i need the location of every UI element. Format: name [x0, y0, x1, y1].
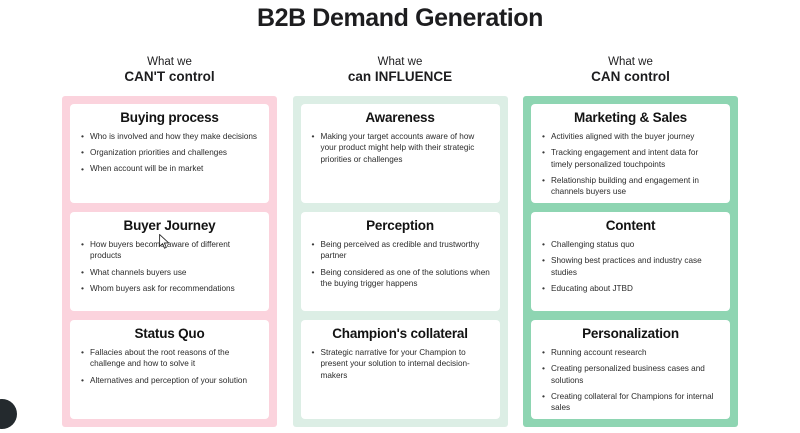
list-item: Whom buyers ask for recommendations	[79, 283, 260, 295]
edge-dot	[0, 399, 17, 429]
list-item: Organization priorities and challenges	[79, 147, 260, 159]
list-item: When account will be in market	[79, 163, 260, 175]
list-item: Tracking engagement and intent data for …	[540, 147, 721, 170]
slide-canvas: B2B Demand Generation What we CAN'T cont…	[0, 0, 800, 433]
column-cant-control: What we CAN'T control Buying process Who…	[62, 56, 277, 427]
card-bullet-list: Making your target accounts aware of how…	[310, 131, 491, 166]
card-title: Buying process	[79, 111, 260, 126]
card-title: Awareness	[310, 111, 491, 126]
card-title: Marketing & Sales	[540, 111, 721, 126]
panel-cant-control: Buying process Who is involved and how t…	[62, 96, 277, 427]
card-bullet-list: Running account research Creating person…	[540, 347, 721, 414]
column-header-can-control: What we CAN control	[523, 56, 738, 96]
list-item: Fallacies about the root reasons of the …	[79, 347, 260, 370]
column-header-kicker: What we	[293, 56, 508, 69]
card-marketing-and-sales[interactable]: Marketing & Sales Activities aligned wit…	[531, 104, 730, 203]
list-item: Being considered as one of the solutions…	[310, 267, 491, 290]
column-header-strong: CAN'T control	[62, 69, 277, 84]
list-item: Creating personalized business cases and…	[540, 363, 721, 386]
column-header-strong: can INFLUENCE	[293, 69, 508, 84]
card-awareness[interactable]: Awareness Making your target accounts aw…	[301, 104, 500, 203]
column-header-can-influence: What we can INFLUENCE	[293, 56, 508, 96]
list-item: Who is involved and how they make decisi…	[79, 131, 260, 143]
card-status-quo[interactable]: Status Quo Fallacies about the root reas…	[70, 320, 269, 419]
card-title: Status Quo	[79, 327, 260, 342]
card-bullet-list: Activities aligned with the buyer journe…	[540, 131, 721, 198]
card-bullet-list: Fallacies about the root reasons of the …	[79, 347, 260, 386]
page-title: B2B Demand Generation	[0, 4, 800, 33]
card-buyer-journey[interactable]: Buyer Journey How buyers become aware of…	[70, 212, 269, 311]
card-champions-collateral[interactable]: Champion's collateral Strategic narrativ…	[301, 320, 500, 419]
list-item: Alternatives and perception of your solu…	[79, 375, 260, 387]
card-title: Champion's collateral	[310, 327, 491, 342]
card-bullet-list: Who is involved and how they make decisi…	[79, 131, 260, 175]
card-personalization[interactable]: Personalization Running account research…	[531, 320, 730, 419]
list-item: How buyers become aware of different pro…	[79, 239, 260, 262]
card-title: Perception	[310, 219, 491, 234]
columns-container: What we CAN'T control Buying process Who…	[62, 56, 738, 427]
column-header-kicker: What we	[62, 56, 277, 69]
column-can-control: What we CAN control Marketing & Sales Ac…	[523, 56, 738, 427]
list-item: What channels buyers use	[79, 267, 260, 279]
list-item: Running account research	[540, 347, 721, 359]
watermark: w .	[754, 365, 799, 426]
list-item: Making your target accounts aware of how…	[310, 131, 491, 166]
column-header-kicker: What we	[523, 56, 738, 69]
list-item: Activities aligned with the buyer journe…	[540, 131, 721, 143]
list-item: Relationship building and engagement in …	[540, 175, 721, 198]
list-item: Strategic narrative for your Champion to…	[310, 347, 491, 382]
card-title: Content	[540, 219, 721, 234]
panel-can-control: Marketing & Sales Activities aligned wit…	[523, 96, 738, 427]
list-item: Being perceived as credible and trustwor…	[310, 239, 491, 262]
card-bullet-list: Challenging status quo Showing best prac…	[540, 239, 721, 295]
card-bullet-list: How buyers become aware of different pro…	[79, 239, 260, 295]
card-buying-process[interactable]: Buying process Who is involved and how t…	[70, 104, 269, 203]
card-content[interactable]: Content Challenging status quo Showing b…	[531, 212, 730, 311]
list-item: Creating collateral for Champions for in…	[540, 391, 721, 414]
column-can-influence: What we can INFLUENCE Awareness Making y…	[293, 56, 508, 427]
card-bullet-list: Being perceived as credible and trustwor…	[310, 239, 491, 290]
card-title: Buyer Journey	[79, 219, 260, 234]
card-title: Personalization	[540, 327, 721, 342]
list-item: Challenging status quo	[540, 239, 721, 251]
column-header-strong: CAN control	[523, 69, 738, 84]
list-item: Showing best practices and industry case…	[540, 255, 721, 278]
card-bullet-list: Strategic narrative for your Champion to…	[310, 347, 491, 382]
column-header-cant-control: What we CAN'T control	[62, 56, 277, 96]
card-perception[interactable]: Perception Being perceived as credible a…	[301, 212, 500, 311]
panel-can-influence: Awareness Making your target accounts aw…	[293, 96, 508, 427]
list-item: Educating about JTBD	[540, 283, 721, 295]
